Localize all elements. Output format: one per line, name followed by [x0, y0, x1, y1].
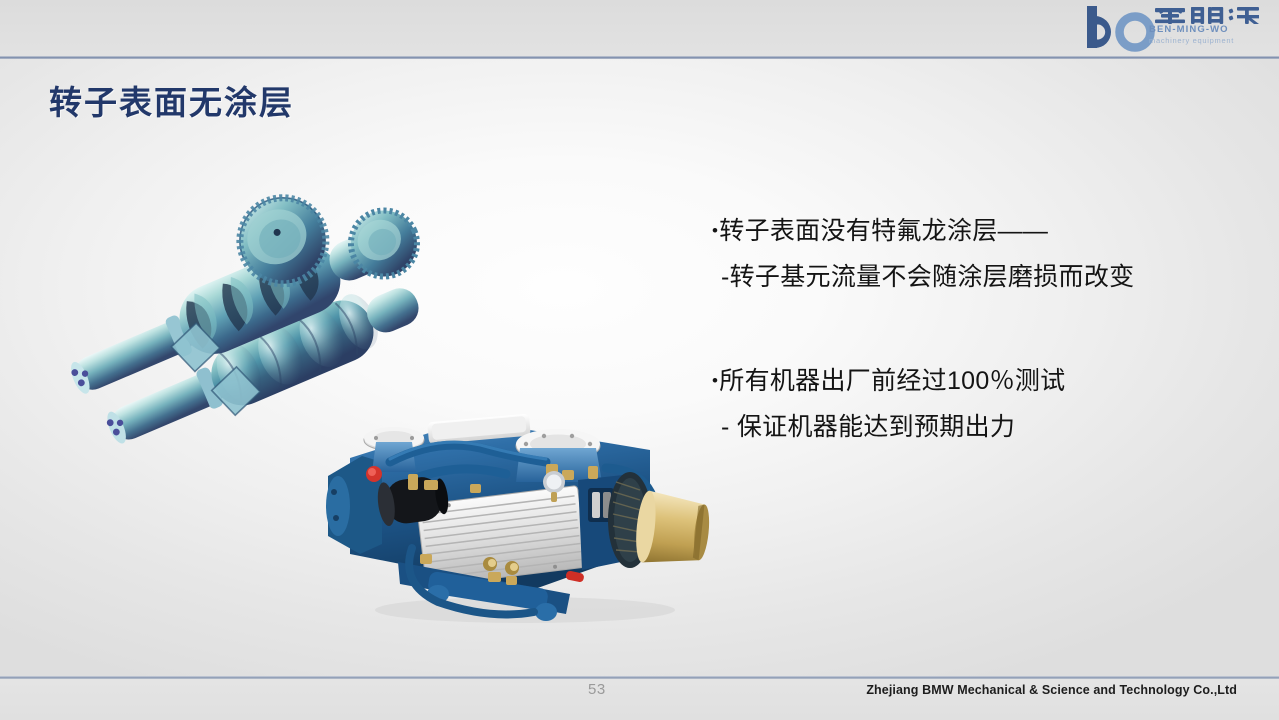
bullet-content: 转子表面没有特氟龙涂层—— -转子基元流量不会随涂层磨损而改变 所有机器出厂前经…	[712, 208, 1232, 450]
screw-compressor-unit-icon	[320, 358, 720, 633]
bullet-sub-line: -转子基元流量不会随涂层磨损而改变	[712, 254, 1232, 300]
bullet-group: 转子表面没有特氟龙涂层—— -转子基元流量不会随涂层磨损而改变	[712, 208, 1232, 300]
logo-latin-name: BEN-MING-WO	[1149, 24, 1229, 35]
footer-company-name: Zhejiang BMW Mechanical & Science and Te…	[866, 683, 1237, 697]
logo-tagline: machinery equipment	[1149, 36, 1234, 45]
page-number: 53	[588, 681, 606, 698]
presentation-slide: BEN-MING-WO machinery equipment 转子表面无涂层	[0, 0, 1279, 720]
company-logo: BEN-MING-WO machinery equipment	[1075, 2, 1271, 54]
bullet-sub-line: - 保证机器能达到预期出力	[712, 404, 1232, 450]
bullet-lead-line: 转子表面没有特氟龙涂层——	[712, 208, 1232, 254]
page-title: 转子表面无涂层	[49, 76, 294, 124]
bullet-group: 所有机器出厂前经过100％测试 - 保证机器能达到预期出力	[712, 358, 1232, 450]
compressor-photo	[320, 358, 720, 633]
bullet-lead-line: 所有机器出厂前经过100％测试	[712, 358, 1232, 404]
header-divider-line	[0, 56, 1279, 59]
